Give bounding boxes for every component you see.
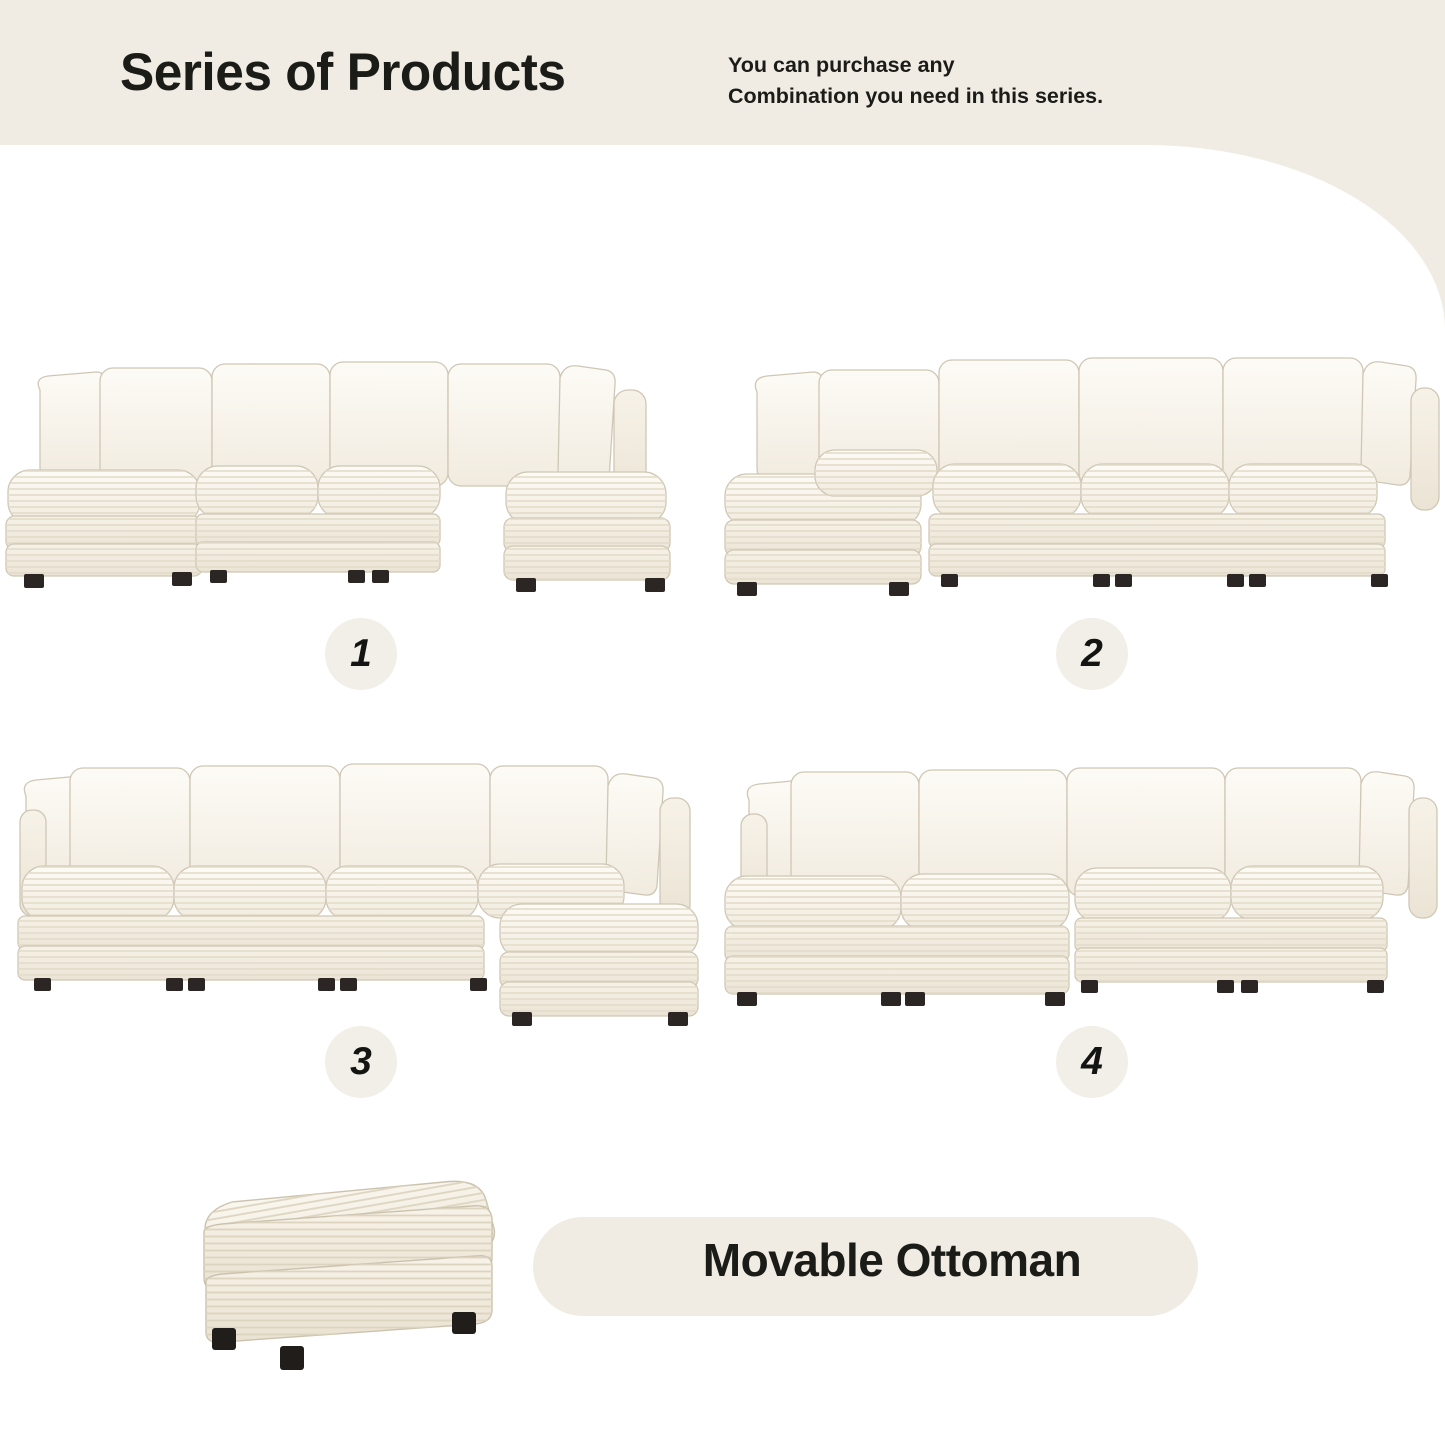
ottoman-illustration	[190, 1170, 570, 1390]
configuration-badge-3: 3	[325, 1026, 397, 1098]
configuration-badge-4: 4	[1056, 1026, 1128, 1098]
header-subtitle-line-1: You can purchase any	[728, 50, 1103, 81]
movable-ottoman-label: Movable Ottoman	[612, 1233, 1172, 1287]
header-subtitle-line-2: Combination you need in this series.	[728, 81, 1103, 112]
page-title: Series of Products	[120, 42, 566, 103]
configuration-4[interactable]: 4	[723, 738, 1445, 1143]
header-subtitle: You can purchase any Combination you nee…	[728, 50, 1103, 111]
configuration-3[interactable]: 3	[0, 738, 722, 1143]
configuration-1[interactable]: 1	[0, 330, 722, 735]
sofa-illustration-4	[723, 738, 1445, 1028]
configuration-2[interactable]: 2	[723, 330, 1445, 735]
configurations-grid: 1	[0, 330, 1445, 1140]
sofa-illustration-2	[723, 330, 1445, 620]
sofa-illustration-1	[0, 330, 722, 620]
configuration-badge-2: 2	[1056, 618, 1128, 690]
configuration-badge-1: 1	[325, 618, 397, 690]
sofa-illustration-3	[0, 738, 722, 1028]
